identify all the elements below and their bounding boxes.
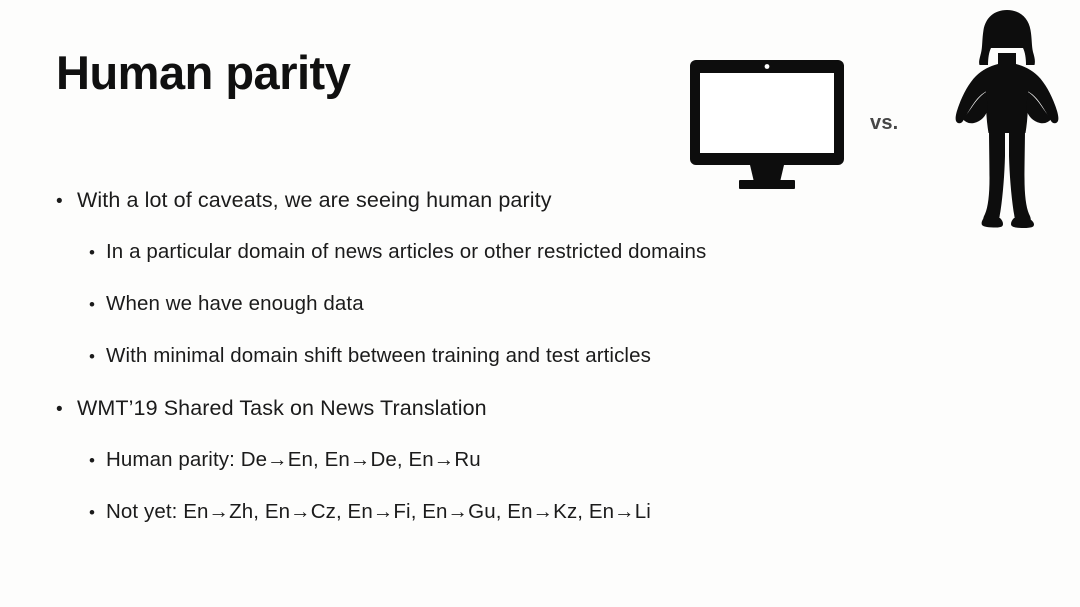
bullet-marker-icon: • bbox=[89, 504, 106, 521]
bullet-marker-icon: • bbox=[56, 400, 77, 419]
vs-label: vs. bbox=[870, 112, 898, 135]
bullet-marker-icon: • bbox=[56, 192, 77, 211]
desktop-monitor-icon bbox=[688, 58, 846, 190]
bullet-text: With a lot of caveats, we are seeing hum… bbox=[77, 188, 552, 213]
bullet-item-3: • When we have enough data bbox=[56, 292, 936, 344]
bullet-text: When we have enough data bbox=[106, 292, 364, 316]
bullet-text: With minimal domain shift between traini… bbox=[106, 344, 651, 368]
bullet-item-6: • Human parity: De→En, En→De, En→Ru bbox=[56, 448, 936, 500]
bullet-item-1: • With a lot of caveats, we are seeing h… bbox=[56, 188, 936, 240]
bullet-item-7: • Not yet: En→Zh, En→Cz, En→Fi, En→Gu, E… bbox=[56, 500, 936, 552]
bullet-marker-icon: • bbox=[89, 296, 106, 313]
bullet-text: Not yet: En→Zh, En→Cz, En→Fi, En→Gu, En→… bbox=[106, 500, 651, 524]
person-silhouette-icon bbox=[948, 6, 1066, 232]
bullet-text: WMT’19 Shared Task on News Translation bbox=[77, 396, 487, 421]
bullet-marker-icon: • bbox=[89, 452, 106, 469]
bullet-text: Human parity: De→En, En→De, En→Ru bbox=[106, 448, 481, 472]
bullet-item-5: • WMT’19 Shared Task on News Translation bbox=[56, 396, 936, 448]
bullet-item-4: • With minimal domain shift between trai… bbox=[56, 344, 936, 396]
bullet-marker-icon: • bbox=[89, 348, 106, 365]
bullet-item-2: • In a particular domain of news article… bbox=[56, 240, 936, 292]
bullet-list: • With a lot of caveats, we are seeing h… bbox=[56, 188, 936, 552]
slide-canvas: Human parity vs. bbox=[0, 0, 1080, 607]
page-title: Human parity bbox=[56, 48, 350, 97]
bullet-text: In a particular domain of news articles … bbox=[106, 240, 706, 264]
bullet-marker-icon: • bbox=[89, 244, 106, 261]
